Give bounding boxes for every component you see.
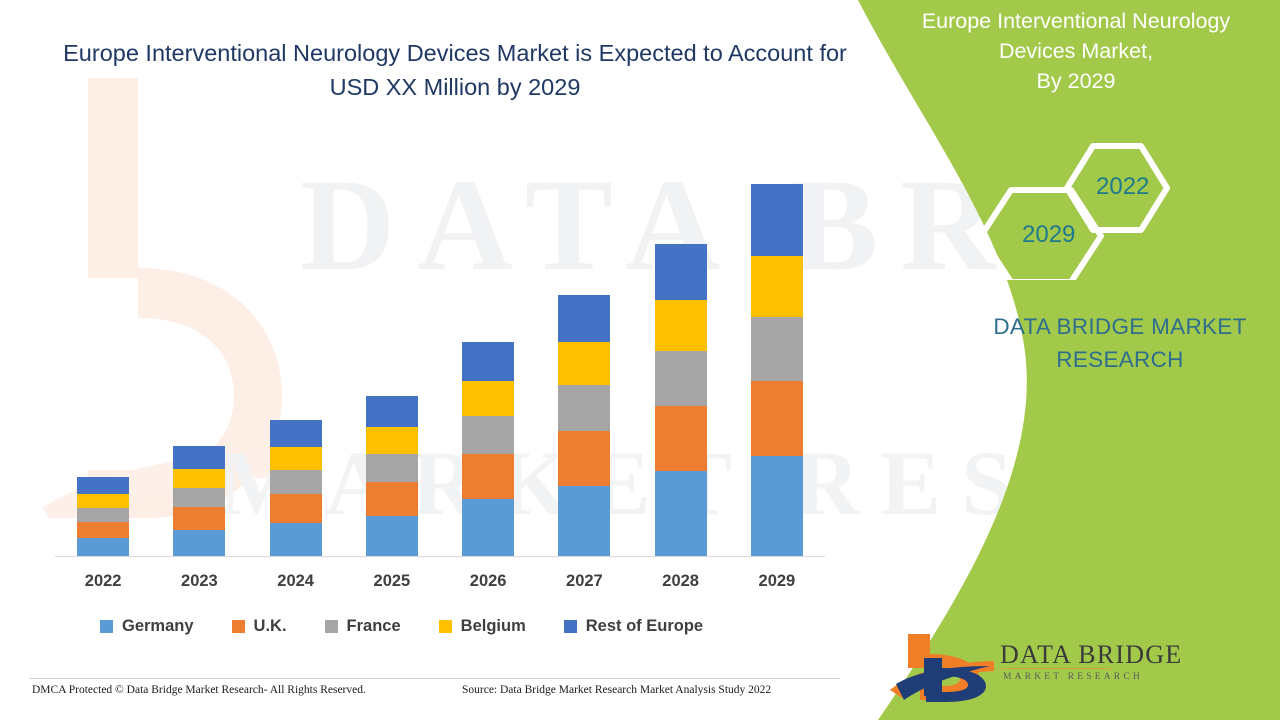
bar-segment-belgium [366, 427, 418, 454]
bar-segment-rest-of-europe [558, 295, 610, 342]
bar-segment-belgium [77, 494, 129, 508]
logo-tagline: MARKET RESEARCH [1003, 672, 1143, 682]
bar-segment-germany [173, 530, 225, 556]
brand-name-line-1: DATA BRIDGE MARKET [960, 310, 1280, 343]
bar-segment-u-k [462, 454, 514, 499]
bar-segment-belgium [751, 256, 803, 317]
x-axis-label-2023: 2023 [159, 572, 239, 591]
bar-2025 [366, 396, 418, 556]
bar-segment-rest-of-europe [173, 446, 225, 469]
bar-segment-rest-of-europe [462, 342, 514, 381]
bar-2028 [655, 244, 707, 556]
bar-2022 [77, 477, 129, 556]
bar-segment-germany [751, 456, 803, 556]
bar-segment-u-k [558, 431, 610, 486]
brand-name-line-2: RESEARCH [960, 343, 1280, 376]
bar-segment-germany [558, 486, 610, 556]
hexagon-end-year-label: 2029 [1022, 221, 1075, 249]
bar-segment-germany [462, 499, 514, 556]
x-axis-label-2027: 2027 [544, 572, 624, 591]
legend-label: France [347, 617, 401, 636]
legend-item-germany[interactable]: Germany [100, 617, 194, 636]
footer-source: Source: Data Bridge Market Research Mark… [462, 684, 771, 696]
bar-segment-france [558, 385, 610, 431]
footer-copyright: DMCA Protected © Data Bridge Market Rese… [32, 684, 366, 696]
bar-segment-rest-of-europe [366, 396, 418, 427]
infographic-canvas: DATA BRIDGE MARKET RESEARCH Europe Inter… [0, 0, 1280, 720]
bar-segment-rest-of-europe [77, 477, 129, 494]
panel-title-line-3: By 2029 [886, 66, 1266, 96]
bar-segment-france [462, 416, 514, 454]
bar-segment-belgium [462, 381, 514, 416]
x-axis-label-2025: 2025 [352, 572, 432, 591]
bar-2024 [270, 420, 322, 556]
bar-segment-france [77, 508, 129, 522]
chart-legend: GermanyU.K.FranceBelgiumRest of Europe [100, 617, 741, 636]
brand-name: DATA BRIDGE MARKET RESEARCH [960, 310, 1280, 376]
bar-segment-france [655, 351, 707, 406]
legend-item-france[interactable]: France [325, 617, 401, 636]
legend-swatch-icon [100, 620, 113, 633]
bar-segment-u-k [366, 482, 418, 516]
logo-wordmark: DATA BRIDGE [1000, 640, 1182, 670]
panel-title-line-1: Europe Interventional Neurology [886, 6, 1266, 36]
legend-label: Rest of Europe [586, 617, 703, 636]
bar-segment-u-k [655, 406, 707, 471]
bar-segment-u-k [270, 494, 322, 523]
bar-segment-germany [270, 523, 322, 556]
x-axis-label-2022: 2022 [63, 572, 143, 591]
logo-divider [1001, 668, 1111, 669]
legend-item-belgium[interactable]: Belgium [439, 617, 526, 636]
x-axis-label-2024: 2024 [256, 572, 336, 591]
legend-item-u-k[interactable]: U.K. [232, 617, 287, 636]
hexagon-badges [975, 140, 1190, 280]
bar-segment-belgium [558, 342, 610, 385]
x-axis-label-2026: 2026 [448, 572, 528, 591]
bar-segment-belgium [173, 469, 225, 488]
bar-segment-germany [366, 516, 418, 556]
bar-segment-rest-of-europe [751, 184, 803, 256]
bar-2027 [558, 295, 610, 556]
bar-segment-germany [77, 538, 129, 556]
x-axis-label-2029: 2029 [737, 572, 817, 591]
bar-segment-u-k [751, 381, 803, 456]
bar-segment-u-k [77, 522, 129, 538]
bar-segment-rest-of-europe [655, 244, 707, 300]
legend-label: U.K. [254, 617, 287, 636]
chart-plot-area [55, 110, 825, 557]
legend-label: Germany [122, 617, 194, 636]
bar-segment-u-k [173, 507, 225, 530]
x-axis-labels: 20222023202420252026202720282029 [55, 572, 825, 596]
bar-segment-belgium [270, 447, 322, 470]
stacked-bar-chart [55, 110, 825, 560]
legend-swatch-icon [564, 620, 577, 633]
legend-swatch-icon [325, 620, 338, 633]
panel-title-line-2: Devices Market, [886, 36, 1266, 66]
legend-swatch-icon [439, 620, 452, 633]
hexagon-start-year-label: 2022 [1096, 173, 1149, 201]
legend-label: Belgium [461, 617, 526, 636]
bar-segment-france [173, 488, 225, 507]
bar-segment-france [366, 454, 418, 482]
legend-swatch-icon [232, 620, 245, 633]
bar-segment-france [751, 317, 803, 381]
panel-title: Europe Interventional Neurology Devices … [886, 6, 1266, 96]
bar-2026 [462, 342, 514, 556]
bar-segment-germany [655, 471, 707, 556]
bar-2029 [751, 184, 803, 556]
bar-segment-belgium [655, 300, 707, 351]
page-title: Europe Interventional Neurology Devices … [60, 36, 850, 104]
bar-2023 [173, 446, 225, 556]
x-axis-label-2028: 2028 [641, 572, 721, 591]
footer-divider [30, 678, 840, 679]
bar-segment-france [270, 470, 322, 494]
bar-segment-rest-of-europe [270, 420, 322, 447]
legend-item-rest-of-europe[interactable]: Rest of Europe [564, 617, 703, 636]
x-axis-line [55, 556, 825, 557]
